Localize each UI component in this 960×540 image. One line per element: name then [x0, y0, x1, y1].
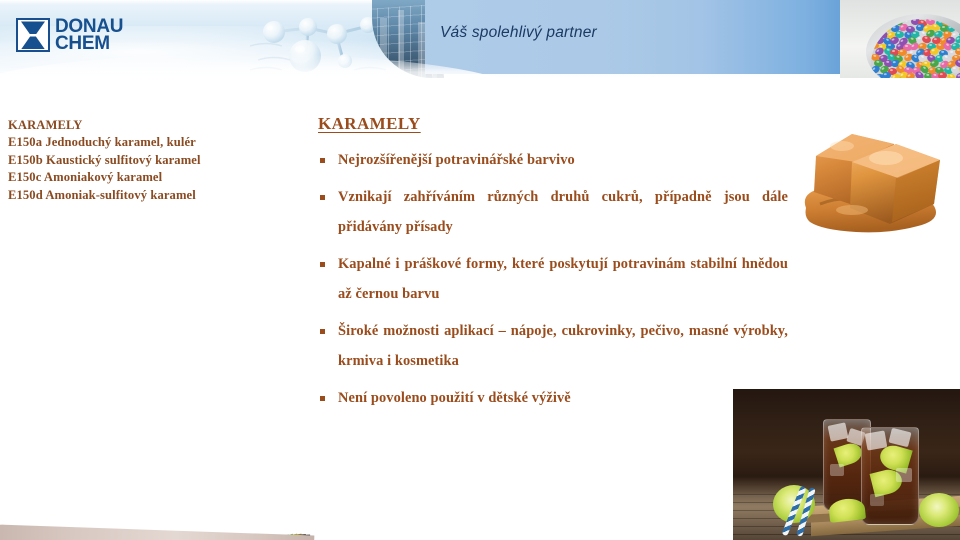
company-logo: DONAU CHEM [16, 18, 123, 53]
hourglass-logo-icon [16, 18, 50, 52]
list-item: E150b Kaustický sulfitový karamel [8, 152, 308, 169]
list-item: E150c Amoniakový karamel [8, 169, 308, 186]
left-caramel-list: KARAMELY E150a Jednoduchý karamel, kulér… [8, 117, 308, 204]
list-item: Vznikají zahříváním různých druhů cukrů,… [318, 182, 788, 242]
candy-bowl-photo [840, 0, 960, 78]
list-item: E150d Amoniak-sulfitový karamel [8, 187, 308, 204]
slide: Váš spolehlivý partner DONAU CHEM KARAME… [0, 0, 960, 540]
list-item: Není povoleno použití v dětské výživě [318, 383, 788, 413]
list-item: Nejrozšířenější potravinářské barvivo [318, 145, 788, 175]
tagline-band: Váš spolehlivý partner [425, 0, 840, 74]
bullet-list: Nejrozšířenější potravinářské barvivo Vz… [318, 145, 788, 413]
glass-front [861, 427, 919, 525]
caramel-cubes-photo [790, 104, 958, 252]
color-fan-blade [0, 285, 322, 540]
page-title: KARAMELY [318, 114, 788, 134]
lime-half-right [919, 493, 959, 527]
iced-tea-glasses-with-lime-photo [733, 389, 960, 540]
pantone-color-fan-deck-photo [0, 285, 322, 540]
logo-line-2: CHEM [55, 35, 123, 52]
page-header: Váš spolehlivý partner DONAU CHEM [0, 0, 960, 88]
left-list-title: KARAMELY [8, 117, 308, 134]
list-item: Kapalné i práškové formy, které poskytuj… [318, 249, 788, 309]
list-item: Široké možnosti aplikací – nápoje, cukro… [318, 316, 788, 376]
tagline-text: Váš spolehlivý partner [440, 24, 597, 42]
list-item: E150a Jednoduchý karamel, kulér [8, 134, 308, 151]
main-content: KARAMELY Nejrozšířenější potravinářské b… [318, 114, 788, 420]
